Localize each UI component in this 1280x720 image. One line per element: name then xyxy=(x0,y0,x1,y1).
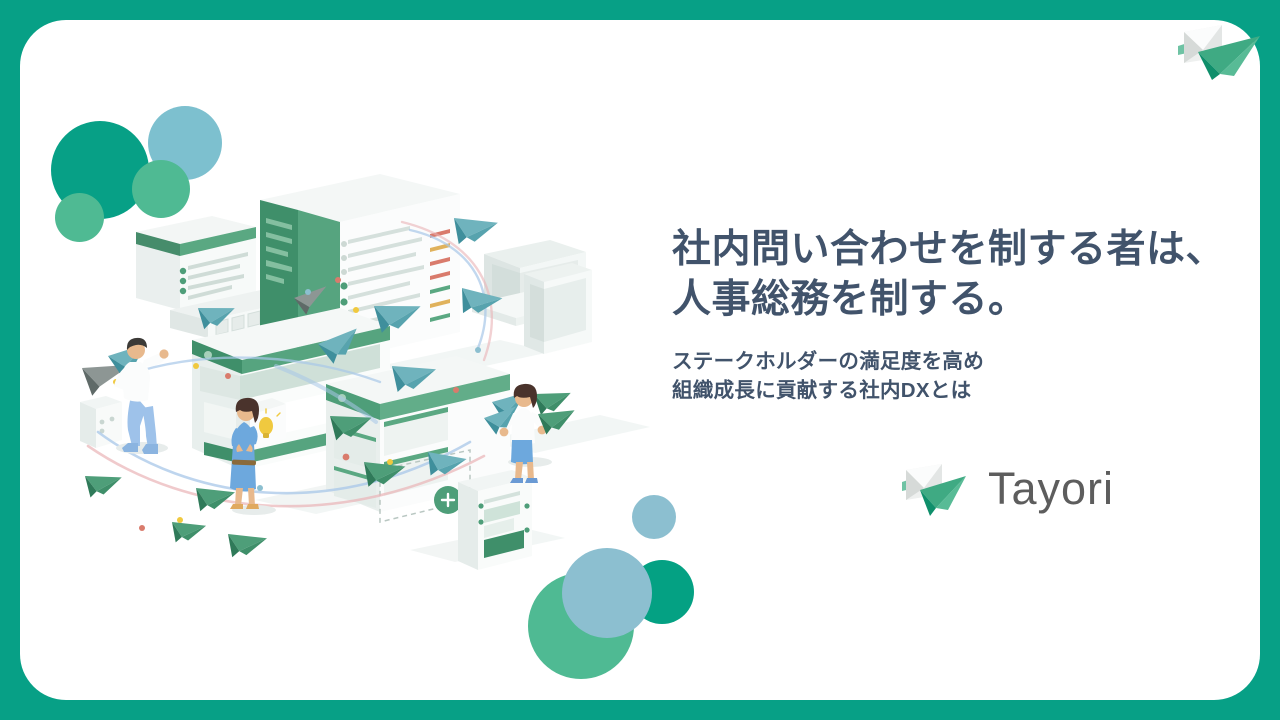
illus-tablet xyxy=(524,263,592,354)
corner-tayori-logo-icon xyxy=(1176,20,1268,82)
hero-illustration xyxy=(80,170,680,590)
slide-panel: 社内問い合わせを制する者は、 人事総務を制する。 ステークホルダーの満足度を高め… xyxy=(20,20,1260,700)
brand-logo: Tayori xyxy=(896,458,1114,518)
illus-left-widget xyxy=(80,396,122,448)
slide-root: 社内問い合わせを制する者は、 人事総務を制する。 ステークホルダーの満足度を高め… xyxy=(0,0,1280,720)
illus-chat-card xyxy=(458,470,532,570)
page-title: 社内問い合わせを制する者は、 人事総務を制する。 xyxy=(672,225,1260,325)
text-block: 社内問い合わせを制する者は、 人事総務を制する。 ステークホルダーの満足度を高め… xyxy=(672,225,1260,405)
page-subtitle: ステークホルダーの満足度を高め 組織成長に貢献する社内DXとは xyxy=(672,347,1260,405)
brand-name: Tayori xyxy=(988,466,1114,511)
tayori-logo-icon xyxy=(896,458,974,518)
